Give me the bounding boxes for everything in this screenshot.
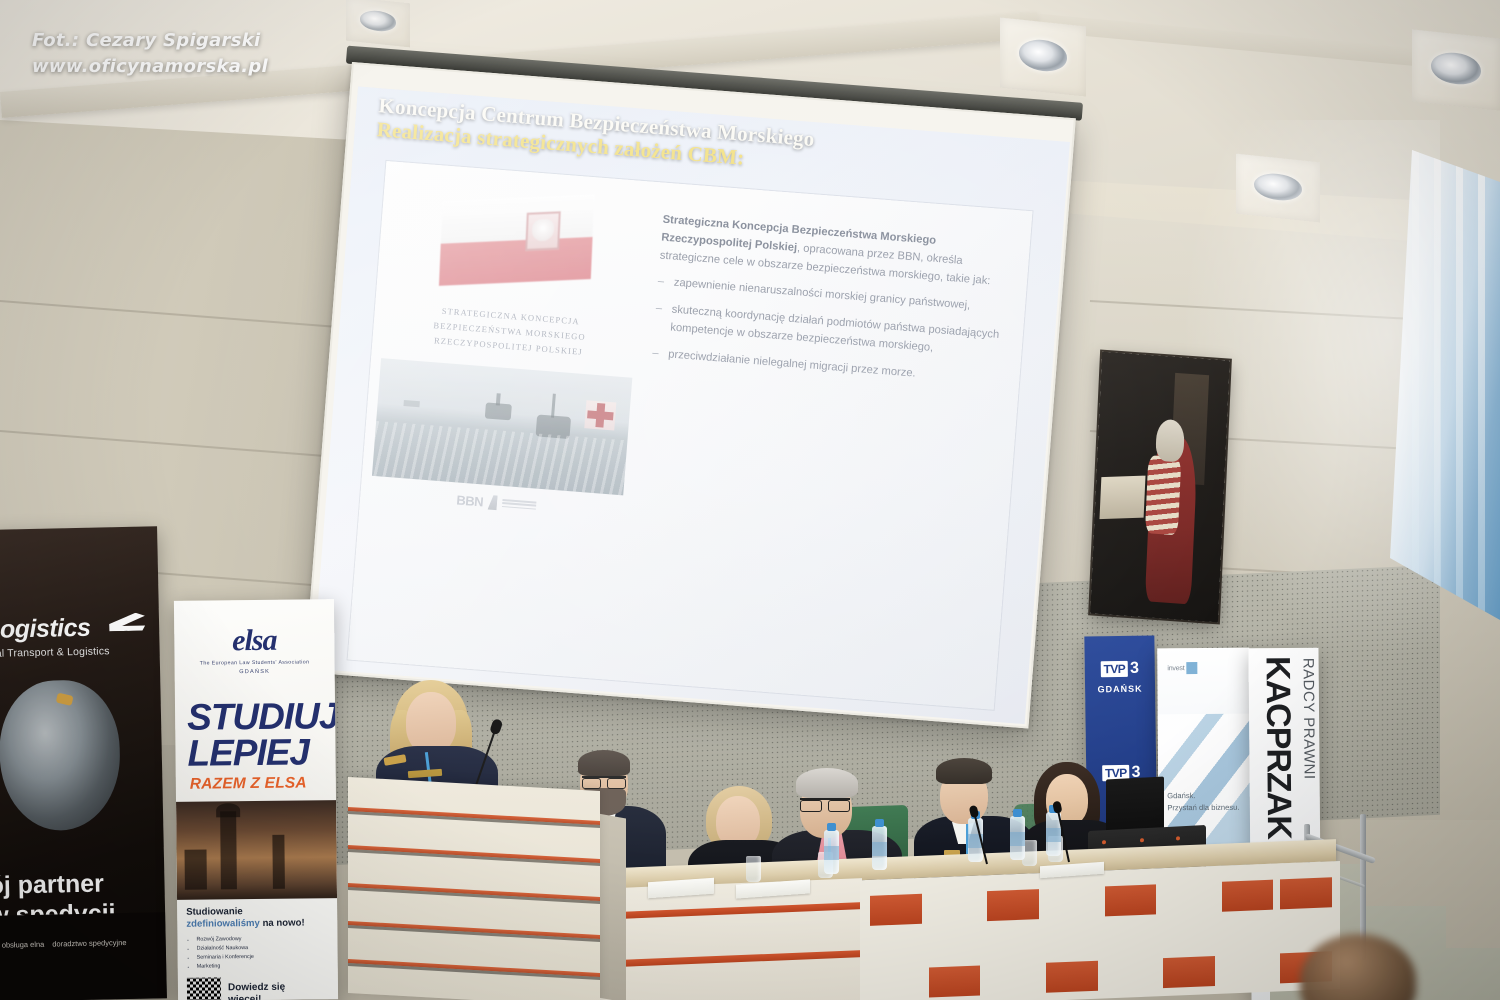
glasses-icon: [800, 798, 850, 808]
seagull-photo: [0, 679, 121, 831]
itl-footer-col2: doradztwo spedycyjne: [52, 937, 128, 1000]
polish-coat-of-arms: [525, 211, 561, 251]
light-reflector: [1019, 38, 1067, 74]
invest-logo-mark: [1186, 662, 1197, 674]
ceiling-light: [1000, 17, 1086, 96]
window-blind: [1412, 150, 1419, 620]
tower-silhouette: [216, 803, 240, 817]
screen-frame: Koncepcja Centrum Bezpieczeństwa Morskie…: [305, 62, 1076, 728]
naval-ships-photo: [372, 358, 632, 495]
naval-ensign-flag: [584, 400, 616, 430]
elsa-headline-accent: zdefiniowaliśmy: [186, 918, 260, 930]
projection-screen: Koncepcja Centrum Bezpieczeństwa Morskie…: [302, 62, 1089, 757]
elsa-headline-plain: Studiowanie: [186, 906, 243, 918]
invest-logo-text: invest: [1167, 665, 1184, 672]
painting-ermine-sash: [1145, 455, 1182, 536]
slide-body: STRATEGICZNA KONCEPCJA BEZPIECZEŃSTWA MO…: [348, 161, 1033, 710]
painting-wig: [1155, 418, 1185, 462]
elsa-bullet-list: Rozwój Zawodowy Działalność Naukowa Semi…: [186, 934, 329, 971]
itl-footer: obsługa elna doradztwo spedycyjne: [0, 912, 167, 1000]
elsa-logo: elsa: [174, 623, 334, 659]
slide-right-column: Strategiczna Koncepcja Bezpieczeństwa Mo…: [617, 182, 1033, 710]
status-led: [1176, 836, 1180, 840]
ship-silhouette: [403, 400, 419, 407]
elsa-slogan: RAZEM Z ELSA: [176, 774, 336, 794]
elsa-cta-line2: więcej!: [228, 994, 261, 1000]
elsa-info-block: Studiowanie zdefiniowaliśmy na nowo! Roz…: [177, 898, 338, 1000]
tvp-channel-number: 3: [1130, 660, 1139, 678]
light-reflector: [1431, 50, 1480, 87]
tvp-logo-text: TVP: [1100, 661, 1128, 677]
panelist-m1-hair: [796, 768, 858, 798]
slide-canvas: Koncepcja Centrum Bezpieczeństwa Morskie…: [313, 87, 1070, 725]
light-reflector: [1254, 171, 1301, 202]
window-blind: [1456, 150, 1463, 620]
qr-code-icon: [187, 977, 221, 1000]
invest-line1: Gdańsk.: [1167, 790, 1239, 803]
elsa-subtitle: The European Law Students' Association: [175, 659, 335, 667]
photographer-watermark: Fot.: Cezary Spigarski www.oficynamorska…: [32, 28, 268, 79]
elsa-cta-row: Dowiedz się więcej!: [187, 976, 330, 1000]
gdansk-city-photo: [176, 800, 337, 900]
window-blind: [1434, 150, 1441, 620]
window-blind: [1478, 150, 1485, 620]
ceiling-light: [1236, 154, 1320, 223]
flag-red-band: [439, 237, 593, 286]
tvp-city-label: GDAŃSK: [1085, 684, 1155, 695]
bbn-logo-text: BBN: [456, 492, 484, 509]
bbn-logo-mark: [488, 495, 498, 511]
elsa-cta-text: Dowiedz się więcej!: [228, 981, 285, 1000]
investgda-logo: invest: [1157, 648, 1249, 675]
desk-stripe: [596, 902, 862, 920]
bbn-logo-subtitle: [502, 499, 537, 510]
status-led: [1102, 840, 1106, 844]
portrait-painting: [1090, 352, 1230, 623]
slide-bullet-list: zapewnienie nienaruszalności morskiej gr…: [652, 274, 1012, 391]
elsa-headline-block: Studiowanie zdefiniowaliśmy na nowo!: [186, 905, 329, 930]
tower-silhouette: [185, 850, 207, 890]
elsa-city: GDAŃSK: [175, 668, 335, 676]
podium-side-panel: [598, 814, 626, 1000]
banner-itl-logistics: Logistics onal Transport & Logistics ój …: [0, 526, 167, 1000]
tower-silhouette: [272, 835, 285, 889]
elsa-headline-1: STUDIUJ: [175, 698, 335, 735]
polish-flag: [439, 195, 594, 286]
watermark-line2: www.oficynamorska.pl: [32, 54, 268, 80]
speaker-head: [406, 692, 456, 754]
elsa-cta-line1: Dowiedz się: [228, 981, 285, 993]
ship-silhouette: [551, 393, 556, 417]
itl-tagline: onal Transport & Logistics: [0, 644, 167, 660]
elsa-headline-2: LEPIEJ: [175, 734, 335, 771]
itl-headline-1: ój partner: [0, 869, 104, 900]
water-bottle: [824, 830, 839, 874]
tvp3-logo: TVP 3: [1085, 660, 1155, 679]
itl-footer-col1: obsługa elna: [2, 939, 46, 1000]
banner-elsa: elsa The European Law Students' Associat…: [174, 599, 338, 1000]
desk-front-checkered: [860, 861, 1340, 1000]
desk-checker-pattern: [870, 877, 1332, 1000]
water-bottle: [1010, 816, 1025, 860]
panelist-nav-hair: [936, 758, 992, 784]
desk-stripe: [596, 950, 862, 968]
elsa-headline-tail: na nowo!: [260, 918, 305, 929]
light-reflector: [360, 10, 396, 33]
slide-left-column: STRATEGICZNA KONCEPCJA BEZPIECZEŃSTWA MO…: [348, 161, 656, 680]
elsa-bullet: Marketing: [197, 961, 330, 971]
investgda-tagline: Gdańsk. Przystań dla biznesu.: [1167, 790, 1239, 815]
ceiling-light: [346, 0, 410, 47]
water-bottle: [872, 826, 887, 870]
flag-white-band: [441, 195, 595, 244]
polish-flag-image: [386, 172, 646, 309]
invest-line2: Przystań dla biznesu.: [1167, 802, 1239, 815]
glasses-icon: [582, 776, 626, 785]
status-led: [1140, 838, 1144, 842]
desk-front-striped: [596, 878, 862, 1000]
painting-table: [1100, 476, 1146, 519]
watermark-line1: Fot.: Cezary Spigarski: [32, 28, 268, 54]
tower-silhouette: [220, 811, 237, 889]
ceiling-light: [1412, 29, 1500, 110]
speaker-podium: [348, 777, 600, 1000]
moderator-hair: [578, 750, 630, 776]
water-glass: [746, 856, 761, 882]
conference-photo: Koncepcja Centrum Bezpieczeństwa Morskie…: [0, 0, 1500, 1000]
